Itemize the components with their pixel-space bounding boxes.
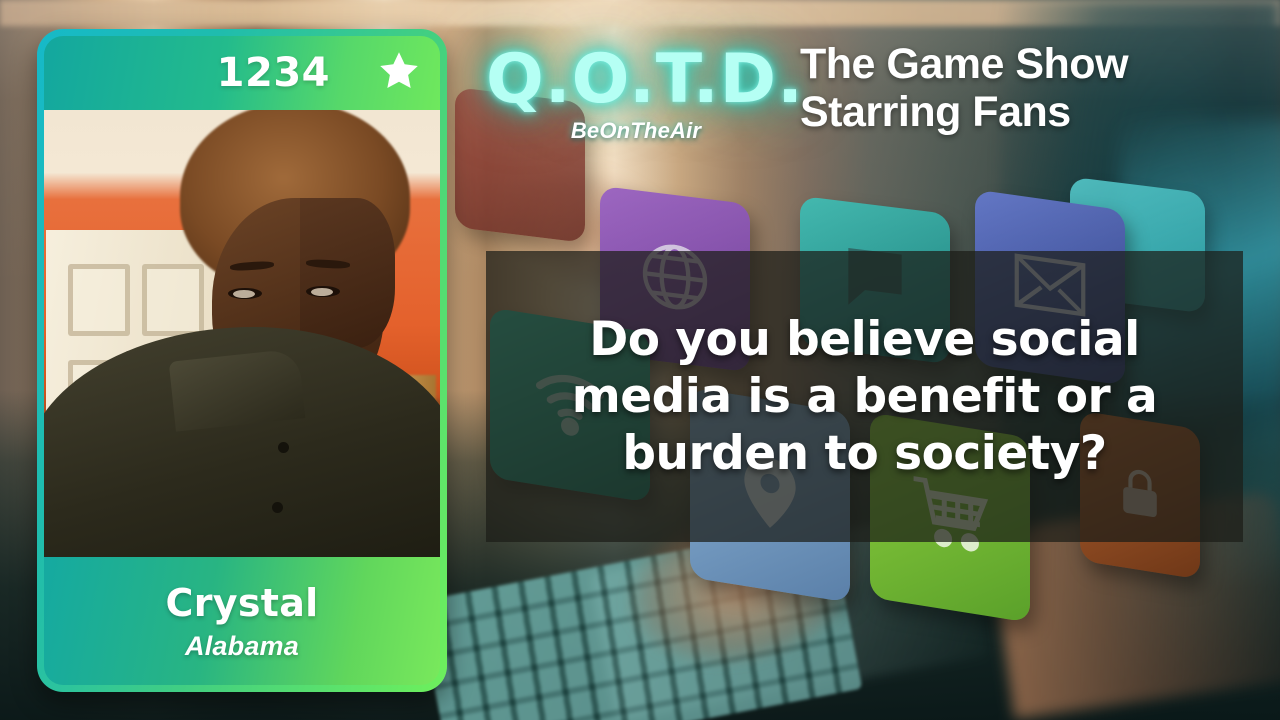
player-webcam-feed [44,110,440,557]
webcam-player-collar [169,348,306,431]
webcam-player-headwrap [300,198,395,348]
question-text: Do you believe social media is a benefit… [515,311,1215,483]
star-icon [376,48,422,99]
player-card-header: 1234 [44,36,440,110]
player-location: Alabama [185,631,299,662]
webcam-door-panel [142,264,204,336]
webcam-shirt-button [272,502,283,513]
player-name: Crystal [166,581,319,625]
webcam-player-eye-white [311,288,333,296]
webcam-player-eye-white [233,290,255,298]
video-frame: Q.O.T.D. BeOnTheAir The Game Show Starri… [0,0,1280,720]
webcam-door-panel [68,264,130,336]
show-tagline: The Game Show Starring Fans [800,40,1260,136]
tagline-line-1: The Game Show [800,40,1260,88]
player-card-footer: Crystal Alabama [44,557,440,685]
webcam-shirt-button [278,442,289,453]
player-card[interactable]: 1234 [37,29,447,692]
tagline-line-2: Starring Fans [800,88,1260,136]
player-score: 1234 [217,50,330,96]
show-logo-text: Q.O.T.D. [486,46,786,114]
show-logo: Q.O.T.D. BeOnTheAir [486,24,786,174]
question-panel: Do you believe social media is a benefit… [486,251,1243,542]
show-logo-subtitle: BeOnTheAir [486,118,786,144]
